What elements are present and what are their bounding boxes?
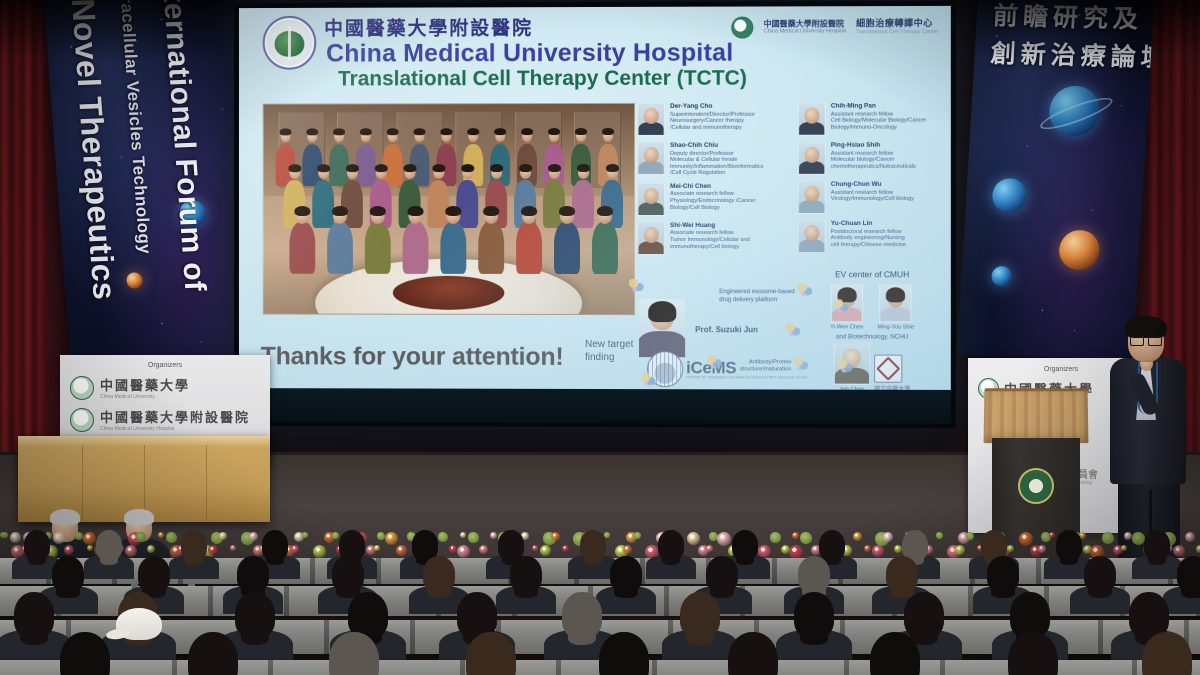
group-photo-person-hair — [294, 206, 310, 216]
profile-list-right: Chih-Ming PanAssistant research fellowCe… — [798, 102, 949, 259]
seat-divider — [284, 586, 289, 616]
profile-entry: Ping-Hsiao ShihAssistant research fellow… — [798, 142, 949, 175]
audience-head — [1084, 556, 1116, 592]
profile-entry: Der-Yang ChoSuperintendent/Director/Prof… — [637, 103, 796, 136]
group-photo-person-hair — [414, 128, 426, 135]
group-photo-person-hair — [548, 164, 561, 172]
group-photo-person-hair — [332, 206, 348, 216]
cmuh-small-logo-icon — [731, 17, 753, 39]
presenter-hair — [1125, 316, 1167, 338]
profile-field: Biology/Cell Biology — [670, 205, 755, 212]
nchu-affiliation: and Biotechnology, NCHU — [794, 333, 951, 340]
profile-name: Der-Yang Cho — [670, 103, 755, 111]
suzuki-name: Prof. Suzuki Jun — [695, 325, 758, 334]
audience-seating — [0, 520, 1200, 675]
group-photo-person — [289, 222, 315, 274]
panel-org-2-cn: 中國醫藥大學附設醫院 — [100, 407, 250, 426]
seat-divider — [1036, 558, 1041, 584]
seat-divider — [1098, 620, 1103, 654]
group-photo-person-hair — [288, 164, 301, 172]
presentation-slide: 中國醫藥大學附設醫院 China Medical University Hosp… — [239, 6, 951, 390]
profile-field: /Cellular and immunotherapy — [670, 125, 755, 132]
group-photo-person-hair — [317, 164, 330, 172]
profile-text: Chih-Ming PanAssistant research fellowCe… — [831, 102, 927, 135]
audience-head — [1177, 556, 1200, 592]
profile-entry: Chih-Ming PanAssistant research fellowCe… — [798, 102, 949, 135]
header-logo-2-en: Translational Cell Therapy Center — [856, 29, 939, 36]
panel-org-1-en: China Medical University — [100, 394, 190, 400]
profile-entry: Chung-Chun WuAssistant research fellowVi… — [798, 181, 949, 214]
profile-field: cell therapy/Chinese medicine — [831, 242, 906, 249]
group-photo-person-hair — [597, 206, 613, 216]
profile-field: Virology/Immunology/Cell biology — [831, 196, 914, 203]
audience-head — [819, 530, 845, 560]
ev-person: Ming-You Shie — [878, 284, 915, 330]
seat-divider — [652, 660, 657, 675]
audience-head — [732, 530, 758, 560]
group-photo-person-hair — [521, 128, 533, 135]
group-photo-person — [403, 222, 429, 274]
seat-divider — [324, 620, 329, 654]
group-photo-person — [327, 222, 353, 274]
group-photo-person-hair — [521, 206, 537, 216]
group-photo-person-hair — [490, 164, 503, 172]
audience-head — [237, 556, 269, 592]
slide-header-logos: 中國醫藥大學附設醫院 China Medical University Hosp… — [731, 16, 938, 39]
group-photo-person-hair — [575, 128, 587, 135]
profile-text: Der-Yang ChoSuperintendent/Director/Prof… — [670, 103, 755, 136]
audience-head — [794, 592, 834, 638]
nchu-block: and Biotechnology, NCHU Yeh Chen 國立中興大學 — [794, 333, 951, 390]
group-photo-person-hair — [345, 164, 358, 172]
seat-divider — [410, 620, 415, 654]
ev-center-people: Yi-Wen Chen Ming-You Shie — [794, 284, 951, 330]
nchu-row: Yeh Chen 國立中興大學 — [794, 342, 951, 390]
profile-field: Tumor Immunology/Cellular and — [670, 237, 750, 244]
group-photo-person-hair — [403, 164, 416, 172]
audience-head — [610, 556, 642, 592]
panel-organizers-label: Organizers — [60, 362, 270, 369]
audience-head — [904, 592, 944, 638]
icems-name: iCeMS — [686, 359, 808, 376]
seat-divider — [376, 558, 381, 584]
group-photo-person-hair — [602, 128, 614, 135]
profile-name: Ping-Hsiao Shih — [831, 142, 916, 150]
audience-head — [423, 556, 455, 592]
panel-org-1-cn: 中國醫藥大學 — [100, 375, 190, 394]
group-photo-person — [478, 222, 504, 274]
profile-photo — [798, 142, 826, 175]
ev-center-block: EV center of CMUH Yi-Wen Chen Ming-You S… — [794, 269, 951, 330]
audience-head — [580, 530, 606, 560]
audience-head — [987, 556, 1019, 592]
profile-text: Shao-Chih ChiuDeputy director/ProfessorM… — [670, 142, 763, 177]
profile-name: Chih-Ming Pan — [831, 102, 927, 110]
thanks-message: Thanks for your attention! — [261, 342, 564, 372]
profile-field: Biology/Immuno-Oncology — [831, 124, 927, 131]
seat-divider — [268, 660, 273, 675]
group-photo-person-hair — [605, 164, 618, 172]
seat-divider — [664, 586, 669, 616]
profile-name: Chung-Chun Wu — [831, 181, 914, 189]
profile-field: /Cell Cycle Regulation — [670, 170, 763, 177]
panel-org-2: 中國醫藥大學附設醫院 China Medical University Hosp… — [70, 407, 262, 432]
profile-photo — [637, 103, 665, 136]
ev-person-name: Ming-You Shie — [878, 324, 915, 330]
group-photo-person-hair — [360, 128, 372, 135]
slide-title-cn: 中國醫藥大學附設醫院 — [324, 13, 533, 41]
profile-name: Shi-Wei Huang — [670, 222, 750, 230]
audience-head — [262, 530, 288, 560]
audience-head — [510, 556, 542, 592]
group-photo-person — [592, 222, 618, 274]
header-logo-1-cn: 中國醫藥大學附設醫院 — [764, 20, 846, 29]
audience-head — [498, 530, 524, 560]
profile-field: chemotherapeutics/Nutraceuticals — [831, 163, 916, 170]
group-photo-person — [365, 222, 391, 274]
header-logo-1-en: China Medical University Hospital — [764, 29, 846, 36]
profile-text: Ping-Hsiao ShihAssistant research fellow… — [831, 142, 916, 175]
audience-head — [181, 530, 207, 560]
group-photo-person-hair — [440, 128, 452, 135]
group-photo-person-hair — [519, 164, 532, 172]
audience-head — [680, 592, 720, 638]
profile-photo — [637, 142, 665, 175]
screen-bottom-edge — [239, 388, 951, 424]
profile-photo — [798, 220, 826, 253]
group-photo-person-hair — [374, 164, 387, 172]
group-photo-person-hair — [370, 206, 386, 216]
ev-center-title: EV center of CMUH — [794, 269, 951, 279]
profile-field: Physiology/Endocrinology /Cancer — [670, 198, 755, 205]
header-logo-1: 中國醫藥大學附設醫院 China Medical University Hosp… — [764, 20, 846, 36]
profile-entry: Shi-Wei HuangAssociate research fellowTu… — [637, 222, 796, 255]
audience-head — [14, 592, 54, 638]
glasses-icon — [1130, 336, 1162, 344]
icems-subtitle: Institute for Integrated Cell-Material S… — [686, 376, 808, 380]
seat-divider — [310, 558, 315, 584]
profile-name: Mei-Chi Chen — [670, 183, 755, 191]
group-photo-person-hair — [461, 164, 474, 172]
seat-divider — [208, 586, 213, 616]
cmuh-logo-icon — [263, 16, 316, 70]
profile-name: Shao-Chih Chiu — [670, 142, 763, 150]
group-photo-person-hair — [548, 128, 560, 135]
cmu-seal-icon — [70, 376, 94, 400]
group-photo-person-hair — [483, 206, 499, 216]
profile-text: Shi-Wei HuangAssociate research fellowTu… — [670, 222, 750, 255]
seat-divider — [172, 660, 177, 675]
auditorium-screenshot: International Forum of Extracellular Ves… — [0, 0, 1200, 675]
group-photo-person-hair — [432, 164, 445, 172]
slide-subtitle: Translational Cell Therapy Center (TCTC) — [338, 67, 747, 92]
slide-title-en: China Medical University Hospital — [326, 39, 733, 69]
seat-divider — [772, 558, 777, 584]
audience-head — [658, 530, 684, 560]
audience-head — [96, 530, 122, 560]
profile-photo — [798, 181, 826, 214]
exosome-platform-label: Engineered exosome-based drug delivery p… — [719, 289, 805, 304]
audience-head — [52, 556, 84, 592]
icems-logo: iCeMS Institute for Integrated Cell-Mate… — [647, 351, 808, 387]
audience-head — [235, 592, 275, 638]
profile-text: Yu-Chuan LinPostdoctoral research fellow… — [831, 220, 906, 253]
audience-head — [1144, 530, 1170, 560]
group-photo-person-hair — [387, 128, 399, 135]
header-logo-2-cn: 細胞治療轉譯中心 — [856, 19, 939, 30]
audience-head — [562, 592, 602, 638]
profile-text: Mei-Chi ChenAssociate research fellowPhy… — [670, 183, 755, 216]
profile-photo — [637, 183, 665, 216]
group-photo-person — [427, 180, 449, 228]
audience-head — [886, 556, 918, 592]
profile-field: Antibody engineering/Nursing — [831, 235, 906, 242]
group-photo-person-hair — [559, 206, 575, 216]
baseball-cap — [116, 608, 162, 640]
audience-head — [798, 556, 830, 592]
audience-head — [24, 530, 50, 560]
seat-divider — [1132, 660, 1137, 675]
lectern-top — [984, 388, 1089, 443]
profile-photo — [798, 103, 826, 136]
header-logo-2: 細胞治療轉譯中心 Translational Cell Therapy Cent… — [856, 19, 939, 36]
nchu-logo-icon — [874, 355, 902, 383]
new-target-label: New target finding — [585, 339, 641, 364]
lectern-seal-icon — [1018, 468, 1054, 504]
panel-org-1: 中國醫藥大學 China Medical University — [70, 375, 262, 400]
group-photo-person — [456, 180, 478, 228]
profile-entry: Mei-Chi ChenAssociate research fellowPhy… — [637, 183, 796, 216]
group-photo-person-hair — [408, 206, 424, 216]
group-photo-person-hair — [306, 128, 318, 135]
group-photo-person — [356, 144, 376, 186]
group-photo-person — [312, 180, 334, 228]
group-photo-person-hair — [280, 128, 292, 135]
profile-field: immunotherapy/Cell biology — [670, 244, 750, 251]
seat-divider — [460, 660, 465, 675]
seat-divider — [556, 660, 561, 675]
audience-head — [1056, 530, 1082, 560]
audience-head — [332, 556, 364, 592]
profile-entry: Yu-Chuan LinPostdoctoral research fellow… — [798, 220, 949, 253]
cmuh-seal-icon — [70, 408, 94, 432]
profile-name: Yu-Chuan Lin — [831, 220, 906, 228]
suzuki-photo — [639, 299, 685, 357]
group-photo-person — [440, 222, 466, 274]
group-photo-person — [516, 222, 542, 274]
audience-head — [706, 556, 738, 592]
ev-person-photo — [880, 284, 912, 322]
slide-header: 中國醫藥大學附設醫院 China Medical University Hosp… — [239, 6, 951, 100]
group-photo-person — [554, 222, 580, 274]
group-photo-person-hair — [577, 164, 590, 172]
profile-text: Chung-Chun WuAssistant research fellowVi… — [831, 181, 914, 214]
team-group-photo — [263, 103, 635, 315]
ev-person-name: Yi-Wen Chen — [830, 324, 863, 330]
group-photo-person-hair — [333, 128, 345, 135]
group-photo-person-hair — [467, 128, 479, 135]
profile-field: Cell Biology/Molecular Biology/Cancer — [831, 118, 927, 125]
audience-head — [1129, 592, 1169, 638]
panel-org-2-en: China Medical University Hospital — [100, 426, 250, 432]
profile-photo — [637, 222, 665, 255]
profile-field: Neurosurgery/Cancer therapy — [670, 118, 755, 125]
profile-entry: Shao-Chih ChiuDeputy director/ProfessorM… — [637, 142, 796, 177]
group-photo-person-hair — [445, 206, 461, 216]
group-photo-person-hair — [494, 128, 506, 135]
seat-divider — [940, 660, 945, 675]
group-photo-person — [572, 180, 594, 228]
profile-list-left: Der-Yang ChoSuperintendent/Director/Prof… — [637, 103, 796, 261]
audience-head — [138, 556, 170, 592]
seat-divider — [844, 660, 849, 675]
projection-screen: 中國醫藥大學附設醫院 China Medical University Hosp… — [234, 1, 956, 428]
